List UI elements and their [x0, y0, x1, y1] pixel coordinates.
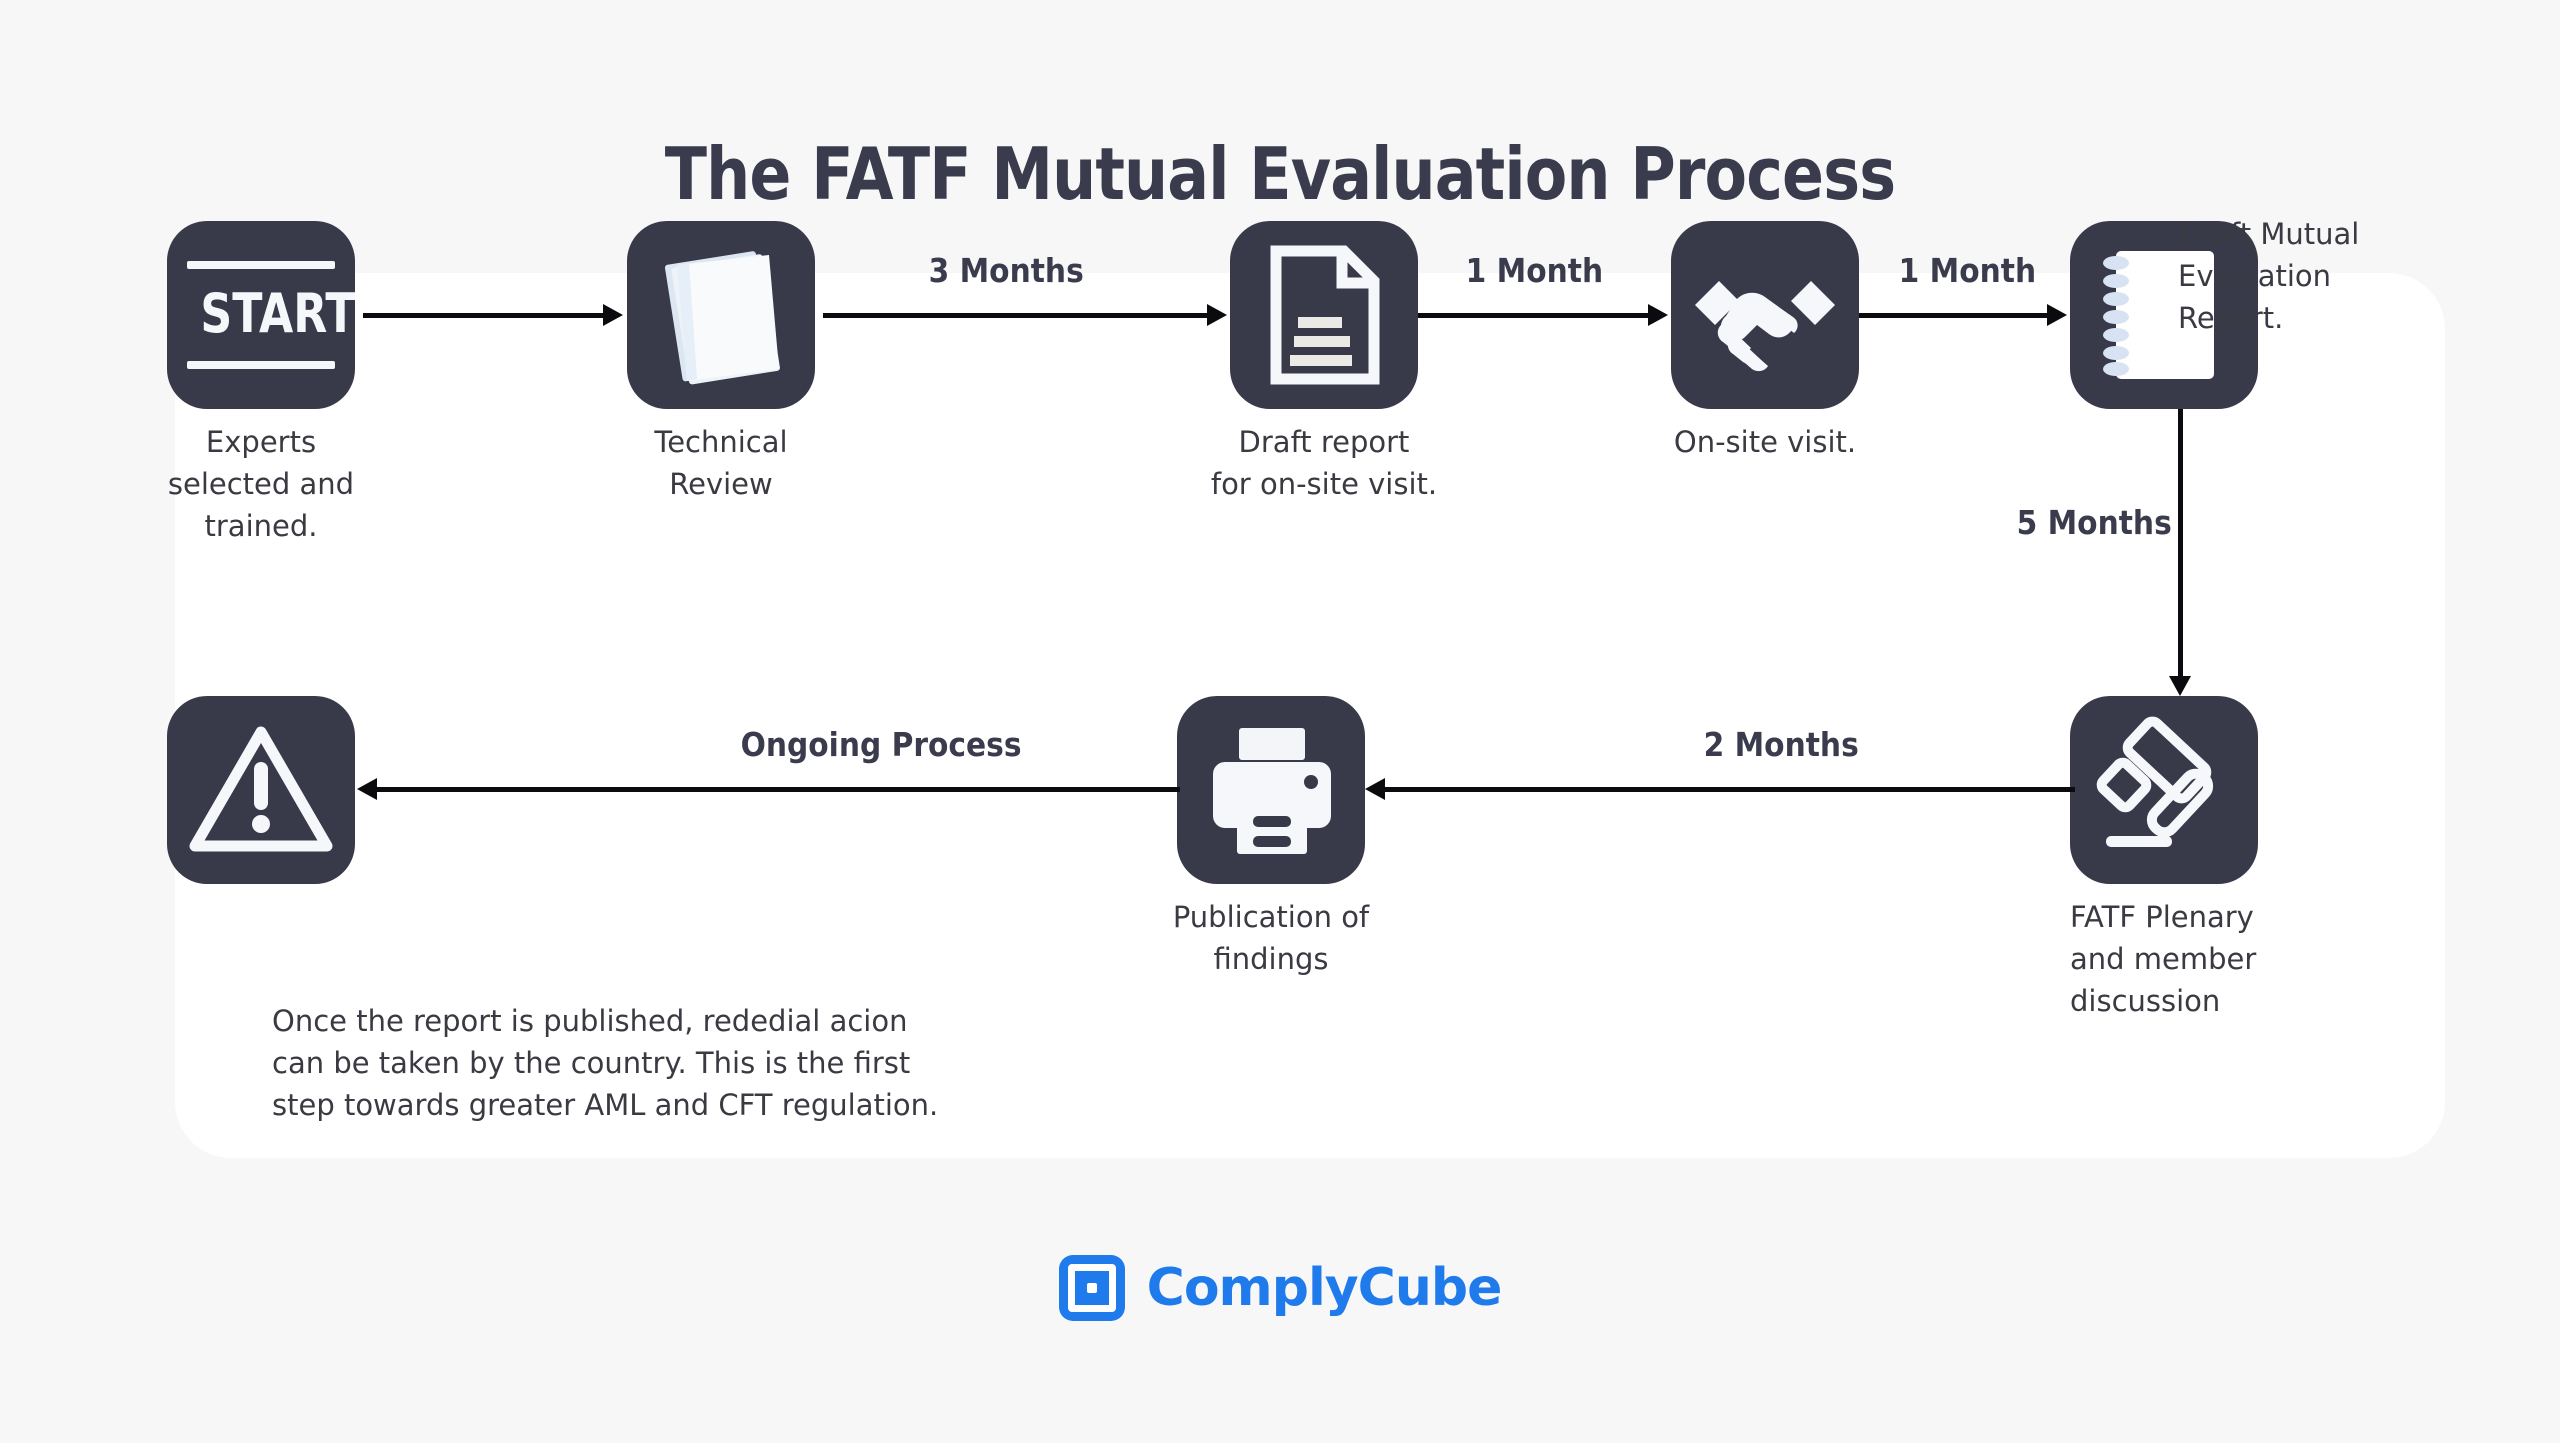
- gavel-icon: [2070, 696, 2258, 884]
- connector-label-1-month-a: 1 Month: [1466, 251, 1603, 290]
- paper-stack-icon: [627, 221, 815, 409]
- node-start: START Experts selected and trained.: [167, 221, 355, 409]
- warning-triangle-icon: [167, 696, 355, 884]
- complycube-square-logo-icon: [1059, 1255, 1125, 1321]
- start-icon-text: START: [200, 279, 321, 349]
- node-technical-review-label: Technical Review: [561, 421, 881, 505]
- node-onsite-visit: On-site visit.: [1671, 221, 1859, 409]
- handshake-icon: [1671, 221, 1859, 409]
- node-publication: Publication of findings: [1177, 696, 1365, 884]
- document-icon-svg: [1230, 221, 1418, 409]
- handshake-icon-svg: [1671, 221, 1859, 409]
- printer-icon: [1177, 696, 1365, 884]
- node-remediation: [167, 696, 355, 884]
- start-badge-icon: START: [167, 221, 355, 409]
- connector-label-ongoing-process: Ongoing Process: [741, 725, 1022, 764]
- connector-label-2-months: 2 Months: [1704, 725, 1859, 764]
- warning-triangle-icon-svg: [167, 696, 355, 884]
- closing-paragraph: Once the report is published, rededial a…: [272, 1000, 952, 1126]
- gavel-icon-svg: [2070, 696, 2258, 884]
- page-title: The FATF Mutual Evaluation Process: [179, 132, 2381, 216]
- node-draft-report: Draft report for on-site visit.: [1230, 221, 1418, 409]
- node-technical-review: Technical Review: [627, 221, 815, 409]
- node-fatf-plenary-label: FATF Plenary and member discussion: [2070, 896, 2370, 1022]
- connector-label-5-months: 5 Months: [2017, 503, 2172, 542]
- node-draft-report-label: Draft report for on-site visit.: [1164, 421, 1484, 505]
- node-publication-label: Publication of findings: [1111, 896, 1431, 980]
- printer-icon-svg: [1177, 696, 1365, 884]
- node-draft-mer-label: Draft Mutual Evaluation Report.: [2178, 213, 2478, 339]
- node-start-label: Experts selected and trained.: [101, 421, 421, 547]
- brand-logo[interactable]: ComplyCube: [0, 1255, 2560, 1321]
- document-icon: [1230, 221, 1418, 409]
- paper-stack-icon-svg: [627, 221, 815, 409]
- node-draft-mer: Draft Mutual Evaluation Report.: [2070, 221, 2258, 409]
- connector-label-3-months: 3 Months: [929, 251, 1084, 290]
- brand-name: ComplyCube: [1147, 1258, 1502, 1318]
- connector-label-1-month-b: 1 Month: [1899, 251, 2036, 290]
- node-onsite-visit-label: On-site visit.: [1605, 421, 1925, 463]
- node-fatf-plenary: FATF Plenary and member discussion: [2070, 696, 2258, 884]
